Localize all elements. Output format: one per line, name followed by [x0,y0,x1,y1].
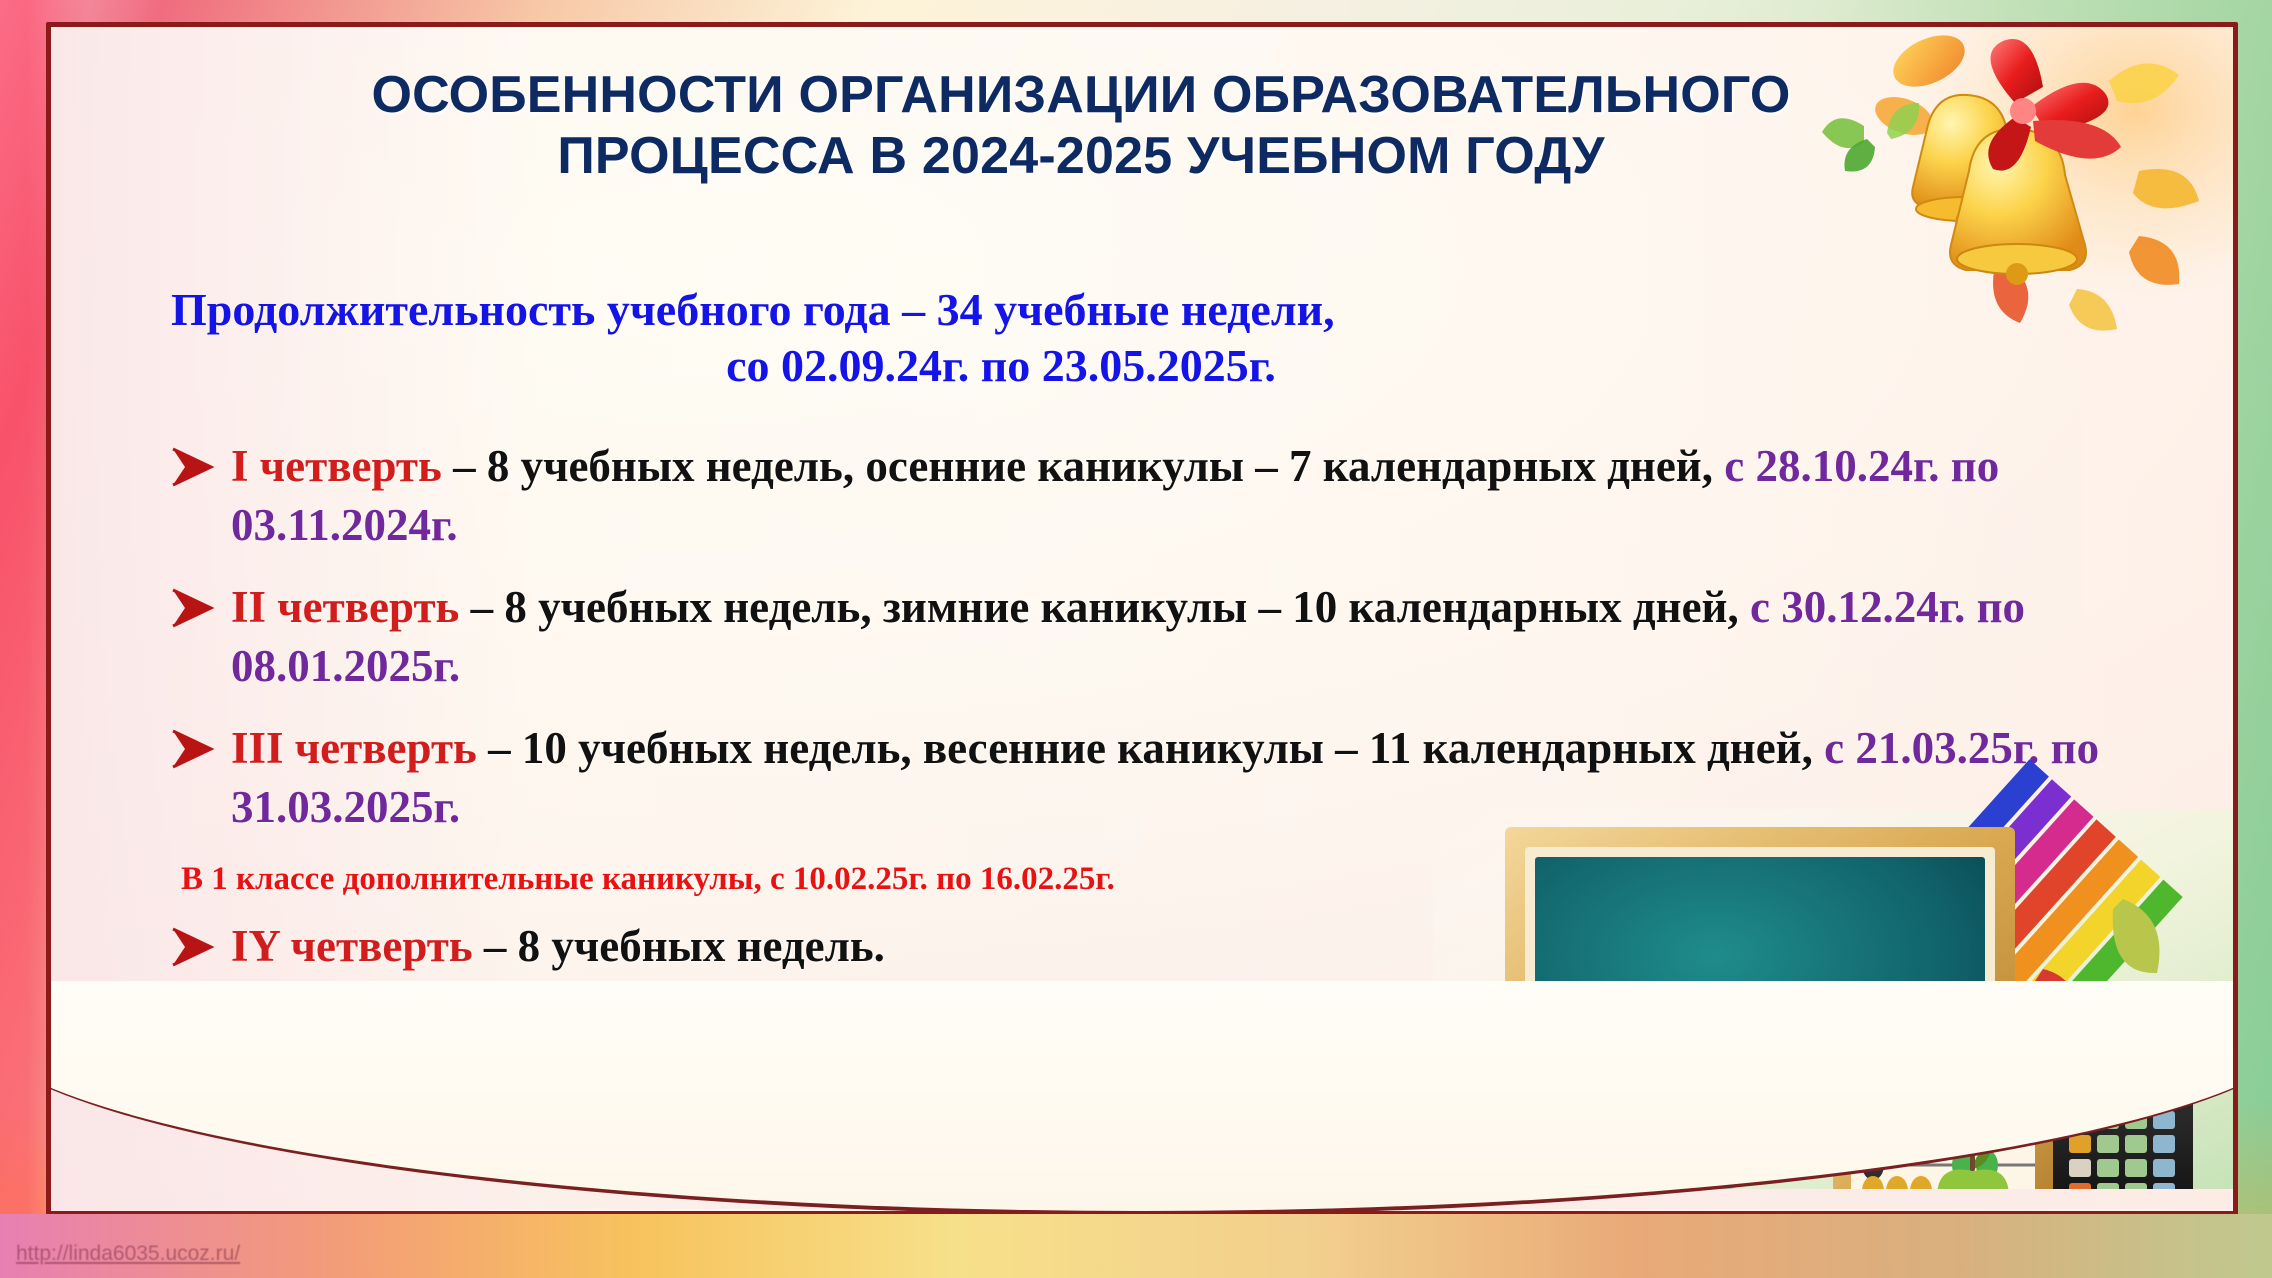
quarter-label: II четверть [231,582,459,632]
source-watermark[interactable]: http://linda6035.ucoz.ru/ [16,1242,240,1266]
quarter-body: – 8 учебных недель. [473,921,885,971]
list-item-text: II четверть – 8 учебных недель, зимние к… [231,578,2229,697]
quarter-label: III четверть [231,723,477,773]
slide-page: ОСОБЕННОСТИ ОРГАНИЗАЦИИ ОБРАЗОВАТЕЛЬНОГО… [46,22,2238,1216]
subtitle: Продолжительность учебного года – 34 уче… [171,282,1711,394]
arrow-bullet-icon [169,445,215,489]
title-line-1: ОСОБЕННОСТИ ОРГАНИЗАЦИИ ОБРАЗОВАТЕЛЬНОГО [301,65,1861,126]
quarter-body: – 8 учебных недель, осенние каникулы – 7… [442,441,1724,491]
list-item-text: III четверть – 10 учебных недель, весенн… [231,719,2101,838]
list-item: I четверть – 8 учебных недель, осенние к… [169,437,2229,556]
arrow-bullet-icon [169,925,215,969]
slide: ОСОБЕННОСТИ ОРГАНИЗАЦИИ ОБРАЗОВАТЕЛЬНОГО… [0,0,2272,1278]
arrow-bullet-icon [169,586,215,630]
quarter-label: IY четверть [231,921,473,971]
quarter-body: – 10 учебных недель, весенние каникулы –… [477,723,1824,773]
school-bells-decoration [1809,22,2238,351]
page-title: ОСОБЕННОСТИ ОРГАНИЗАЦИИ ОБРАЗОВАТЕЛЬНОГО… [301,65,1861,187]
list-item: III четверть – 10 учебных недель, весенн… [169,719,2229,838]
subtitle-line-1: Продолжительность учебного года – 34 уче… [171,282,1711,338]
list-item: II четверть – 8 учебных недель, зимние к… [169,578,2229,697]
list-item: IY четверть – 8 учебных недель. [169,917,2229,976]
subtitle-line-2: со 02.09.24г. по 23.05.2025г. [171,338,1711,394]
autumn-leaves-icon [1822,25,2199,331]
quarter-label: I четверть [231,441,442,491]
list-item-text: IY четверть – 8 учебных недель. [231,917,2229,976]
arrow-bullet-icon [169,727,215,771]
red-ribbon-bow-icon [1988,39,2121,171]
bottom-color-band [0,1214,2272,1278]
school-bell-icon [1912,95,2086,285]
title-line-2: ПРОЦЕССА В 2024-2025 УЧЕБНОМ ГОДУ [301,126,1861,187]
list-item-text: I четверть – 8 учебных недель, осенние к… [231,437,2229,556]
quarter-body: – 8 учебных недель, зимние каникулы – 10… [459,582,1750,632]
quarters-list: I четверть – 8 учебных недель, осенние к… [169,437,2229,998]
first-grade-note: В 1 классе дополнительные каникулы, с 10… [181,859,2229,900]
bottom-curve [46,981,2238,1215]
